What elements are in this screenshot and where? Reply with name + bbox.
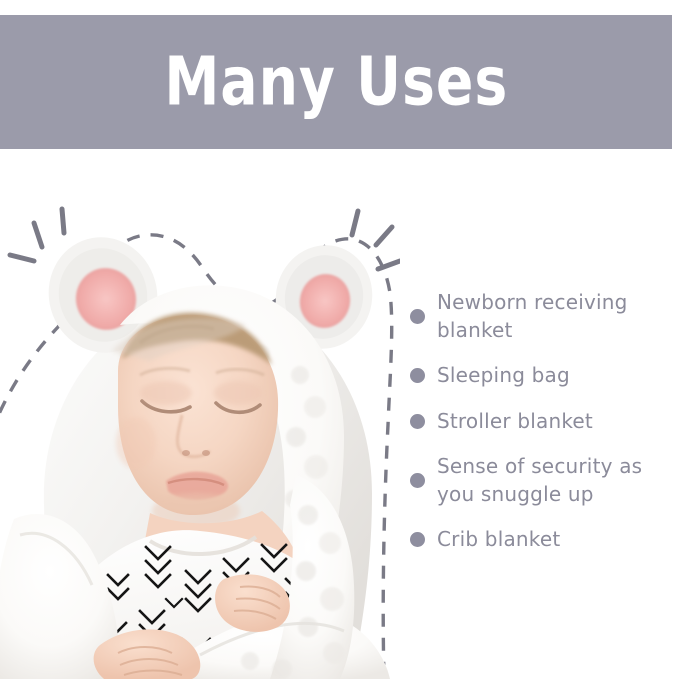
list-item: Crib blanket xyxy=(408,524,673,554)
bullet-icon xyxy=(410,473,425,488)
product-feature-page: Many Uses xyxy=(0,0,679,679)
list-item: Sleeping bag xyxy=(408,360,673,390)
list-item-label: Sense of security as you snuggle up xyxy=(437,452,673,508)
page-title: Many Uses xyxy=(164,48,508,115)
bullet-icon xyxy=(410,414,425,429)
list-item: Newborn receiving blanket xyxy=(408,288,673,344)
bullet-icon xyxy=(410,532,425,547)
product-photo xyxy=(0,175,400,679)
list-item-label: Crib blanket xyxy=(437,525,560,553)
bullet-icon xyxy=(410,309,425,324)
list-item-label: Stroller blanket xyxy=(437,407,593,435)
header-banner: Many Uses xyxy=(0,15,672,149)
list-item: Sense of security as you snuggle up xyxy=(408,452,673,508)
list-item-label: Sleeping bag xyxy=(437,361,570,389)
bullet-icon xyxy=(410,368,425,383)
uses-list: Newborn receiving blanket Sleeping bag S… xyxy=(408,288,673,570)
baby-blanket-illustration xyxy=(0,175,400,679)
list-item: Stroller blanket xyxy=(408,406,673,436)
list-item-label: Newborn receiving blanket xyxy=(437,288,673,344)
